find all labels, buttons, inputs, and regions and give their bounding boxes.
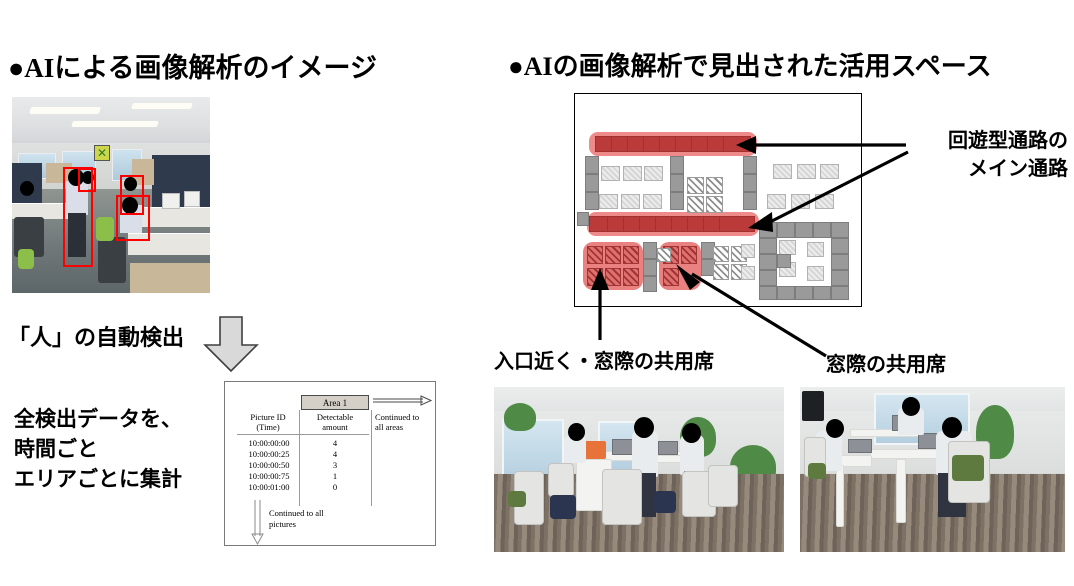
aggregate-label: 全検出データを、 時間ごと エリアごとに集計 xyxy=(14,404,182,494)
flow-arrow-down-icon xyxy=(200,315,262,373)
desk-column xyxy=(743,174,757,192)
zone-seat xyxy=(623,246,639,264)
table-col-divider xyxy=(299,410,300,506)
cell-picture-id: 10:00:00:25 xyxy=(239,449,299,460)
desk-column xyxy=(585,156,599,174)
corridor-seg xyxy=(623,216,624,232)
auto-detection-label: 「人」の自動検出 xyxy=(8,320,184,352)
corridor-seg xyxy=(643,136,644,152)
chair xyxy=(508,491,526,507)
seat xyxy=(767,194,786,209)
desk-row xyxy=(777,222,795,238)
corridor-seg xyxy=(655,216,656,232)
seat xyxy=(623,166,642,181)
cell-picture-id: 10:00:01:00 xyxy=(239,482,299,493)
cont-note-line1: Continued to all xyxy=(269,508,324,519)
column-header-detectable-amount: Detectable amount xyxy=(301,412,369,432)
zone-seat xyxy=(681,246,697,264)
desk-column xyxy=(670,174,684,192)
seat xyxy=(807,266,824,281)
desk-column xyxy=(831,238,849,254)
corridor-seg xyxy=(707,136,708,152)
aggregate-label-line2: 時間ごと xyxy=(14,434,182,464)
page-title-right: ●AIの画像解析で見出された活用スペース xyxy=(508,46,991,83)
seat xyxy=(820,164,839,179)
col-cont-line1: Continued to xyxy=(375,412,433,422)
face-mask xyxy=(942,417,962,438)
column-header-continued-areas: Continued to all areas xyxy=(375,412,433,432)
corridor-seg xyxy=(691,136,692,152)
chair xyxy=(708,465,738,507)
face-mask xyxy=(568,423,585,441)
col-cont-line2: all areas xyxy=(375,422,433,432)
corridor-seg xyxy=(687,216,688,232)
seat xyxy=(773,164,792,179)
desk-column xyxy=(643,276,657,292)
desk-column xyxy=(759,270,777,286)
main-corridor-middle-fill xyxy=(589,216,755,232)
hatched-seat xyxy=(706,177,723,194)
ceiling-light-icon xyxy=(29,107,101,114)
zone-seat xyxy=(663,268,679,286)
col-det-line1: Detectable xyxy=(301,412,369,422)
cell-picture-id: 10:00:00:50 xyxy=(239,460,299,471)
desk-column xyxy=(670,156,684,174)
face-mask xyxy=(634,417,654,438)
office-floor-plan xyxy=(574,93,862,307)
photo-partition xyxy=(152,155,210,207)
cont-note-line2: pictures xyxy=(269,519,324,530)
cell-picture-id: 10:00:00:75 xyxy=(239,471,299,482)
seat xyxy=(815,194,834,209)
page-title-left: ●AIによる画像解析のイメージ xyxy=(8,46,377,85)
cell-detectable-amount: 4 xyxy=(301,438,369,449)
desk-row xyxy=(813,286,831,300)
cell-detectable-amount: 1 xyxy=(301,471,369,482)
area-header-badge: Area 1 xyxy=(301,395,369,410)
seat xyxy=(621,194,640,209)
plant-icon xyxy=(504,403,536,431)
chair xyxy=(808,463,826,479)
corridor-annotation-label: 回遊型通路の メイン通路 xyxy=(916,126,1068,182)
corridor-label-line1: 回遊型通路の xyxy=(916,126,1068,154)
desk-column xyxy=(743,156,757,174)
desk-column xyxy=(759,238,777,254)
slide-canvas: ●AIによる画像解析のイメージ ●AIの画像解析で見出された活用スペース xyxy=(0,0,1074,586)
corridor-seg xyxy=(719,216,720,232)
corridor-seg xyxy=(659,136,660,152)
chair xyxy=(548,463,574,497)
continued-down-arrow-icon xyxy=(251,498,265,546)
main-corridor-top-fill xyxy=(595,136,751,152)
table-col-divider xyxy=(371,410,372,506)
col-det-line2: amount xyxy=(301,422,369,432)
laptop-icon xyxy=(658,441,678,455)
photo-chair xyxy=(98,237,126,283)
desk-stub xyxy=(577,212,589,226)
hatched-seat xyxy=(657,248,671,262)
laptop-icon xyxy=(612,439,634,455)
exit-sign-icon xyxy=(94,145,110,161)
ceiling-light-icon xyxy=(131,103,193,109)
desk-column xyxy=(643,259,657,276)
cell-detectable-amount: 0 xyxy=(301,482,369,493)
photo-face-mask xyxy=(20,181,34,196)
hatched-seat xyxy=(687,177,704,194)
hatched-seat xyxy=(713,246,729,262)
corridor-seg xyxy=(611,136,612,152)
zone-seat xyxy=(623,268,639,286)
chair xyxy=(602,469,642,525)
entrance-space-photo xyxy=(494,387,784,552)
photo-chair xyxy=(96,217,114,241)
col-pid-line1: Picture ID xyxy=(239,412,297,422)
desk-column xyxy=(831,270,849,286)
zone-seat xyxy=(587,246,603,264)
detection-box xyxy=(78,168,96,192)
aggregate-label-line3: エリアごとに集計 xyxy=(14,464,182,494)
office-detection-photo xyxy=(12,97,210,293)
chair xyxy=(952,455,984,481)
seat xyxy=(741,266,755,280)
hatched-seat xyxy=(706,196,723,213)
corridor-seg xyxy=(627,136,628,152)
desk-column xyxy=(585,192,599,210)
seat xyxy=(791,194,810,209)
desk-row xyxy=(795,222,813,238)
cell-picture-id: 10:00:00:00 xyxy=(239,438,299,449)
desk-column xyxy=(743,192,757,210)
corridor-seg xyxy=(675,136,676,152)
ceiling-light-icon xyxy=(71,121,159,127)
desk-leg xyxy=(896,459,906,523)
seat xyxy=(807,242,824,257)
photo-table xyxy=(130,263,210,293)
desk-column xyxy=(777,254,791,268)
face-mask xyxy=(682,423,701,443)
desk-row xyxy=(831,286,849,300)
zone-seat xyxy=(605,246,621,264)
face-mask xyxy=(902,397,920,416)
seat xyxy=(643,194,662,209)
corridor-seg xyxy=(671,216,672,232)
continued-right-arrow-icon xyxy=(371,395,433,409)
hatched-seat xyxy=(687,196,704,213)
window-annotation-label: 窓際の共用席 xyxy=(826,348,946,377)
desk-column xyxy=(759,286,777,300)
monitor-icon xyxy=(802,391,824,421)
corridor-seg xyxy=(703,216,704,232)
hatched-seat xyxy=(713,264,729,280)
backpack xyxy=(654,491,676,513)
desk-column xyxy=(831,254,849,270)
continued-pictures-note: Continued to all pictures xyxy=(269,508,324,530)
desk-leg xyxy=(836,465,844,527)
cell-detectable-amount: 4 xyxy=(301,449,369,460)
backpack xyxy=(550,495,576,519)
window-space-photo xyxy=(800,387,1065,552)
corridor-seg xyxy=(723,136,724,152)
seat xyxy=(797,164,816,179)
column-header-picture-id: Picture ID (Time) xyxy=(239,412,297,432)
photo-chair xyxy=(18,249,34,269)
aggregate-label-line1: 全検出データを、 xyxy=(14,404,182,434)
photo-monitor xyxy=(162,193,180,209)
desk-column xyxy=(759,254,777,270)
seat xyxy=(599,194,618,209)
corridor-seg xyxy=(639,216,640,232)
detection-box xyxy=(120,175,144,215)
laptop-icon xyxy=(848,439,872,453)
zone-seat xyxy=(587,268,603,286)
cell-detectable-amount: 3 xyxy=(301,460,369,471)
desk-row xyxy=(831,222,849,238)
seat xyxy=(644,166,663,181)
face-mask xyxy=(826,419,844,438)
photo-monitor xyxy=(184,191,200,207)
seat xyxy=(779,240,796,255)
zone-seat xyxy=(605,268,621,286)
entrance-annotation-label: 入口近く・窓際の共用席 xyxy=(494,345,714,374)
detection-data-table: Area 1 Picture ID (Time) Detectable amou… xyxy=(224,381,436,546)
desk-row xyxy=(795,286,813,300)
desk-row xyxy=(759,222,777,238)
col-pid-line2: (Time) xyxy=(239,422,297,432)
desk-row xyxy=(777,286,795,300)
desk-column xyxy=(643,242,657,259)
corridor-seg xyxy=(607,216,608,232)
desk-row xyxy=(813,222,831,238)
seat xyxy=(601,166,620,181)
table-header-rule xyxy=(237,434,369,435)
desk-column xyxy=(585,174,599,192)
desk-column xyxy=(670,192,684,210)
corridor-label-line2: メイン通路 xyxy=(916,154,1068,182)
seat xyxy=(741,244,755,258)
